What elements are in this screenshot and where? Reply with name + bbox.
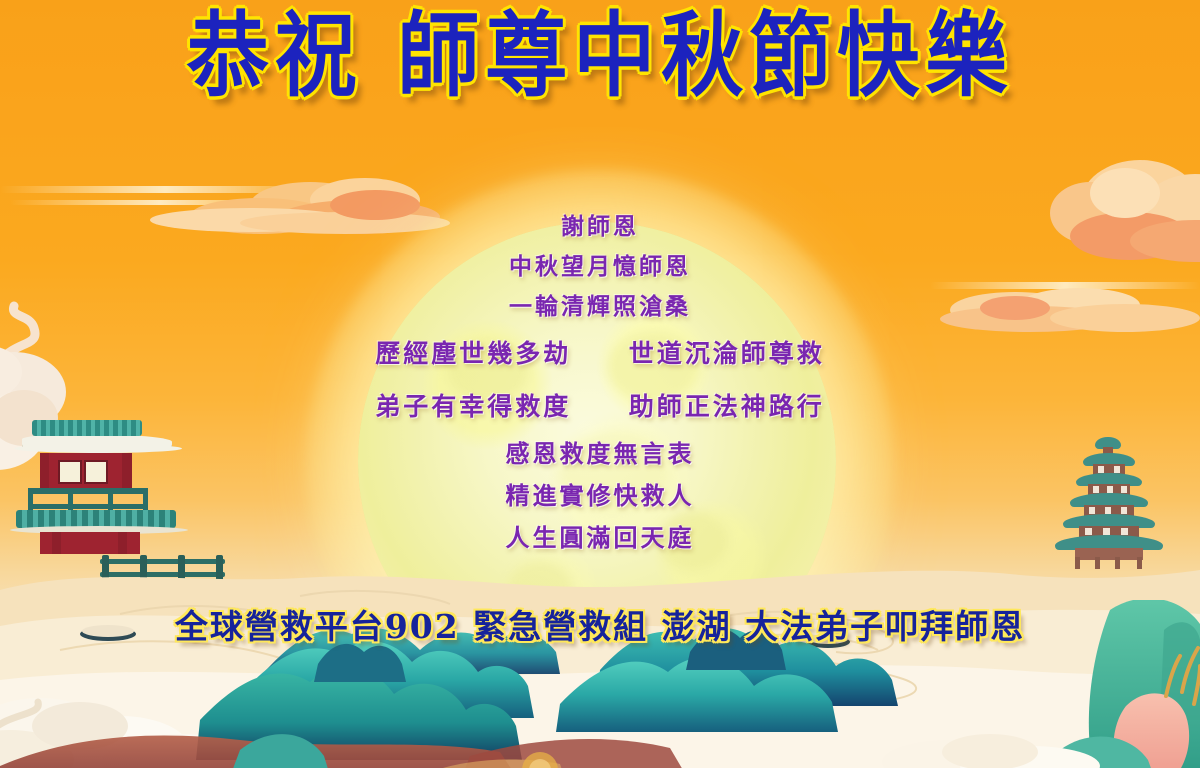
poem-line: 人生圓滿回天庭 xyxy=(0,517,1200,559)
poem-line: 謝師恩 xyxy=(0,207,1200,247)
bottom-border xyxy=(0,768,1200,782)
couplet-left: 弟子有幸得救度 xyxy=(375,392,571,421)
poem-line: 中秋望月憶師恩 xyxy=(0,247,1200,287)
poem-line: 感恩救度無言表 xyxy=(0,433,1200,475)
couplet-right: 助師正法神路行 xyxy=(629,392,825,421)
page-title: 恭祝 師尊中秋節快樂 xyxy=(0,8,1200,105)
poem-line: 一輪清輝照滄桑 xyxy=(0,287,1200,327)
poem-couplet: 歷經塵世幾多劫 世道沉淪師尊救 xyxy=(0,327,1200,380)
mid-autumn-greeting-card: 恭祝 師尊中秋節快樂 謝師恩 中秋望月憶師恩 一輪清輝照滄桑 歷經塵世幾多劫 世… xyxy=(0,0,1200,782)
poem-line: 精進實修快救人 xyxy=(0,475,1200,517)
couplet-right: 世道沉淪師尊救 xyxy=(629,339,825,368)
poem-couplet: 弟子有幸得救度 助師正法神路行 xyxy=(0,380,1200,433)
poem-block: 謝師恩 中秋望月憶師恩 一輪清輝照滄桑 歷經塵世幾多劫 世道沉淪師尊救 弟子有幸… xyxy=(0,207,1200,559)
signature-line: 全球營救平台902 緊急營救組 澎湖 大法弟子叩拜師恩 xyxy=(0,600,1200,648)
couplet-left: 歷經塵世幾多劫 xyxy=(375,339,571,368)
